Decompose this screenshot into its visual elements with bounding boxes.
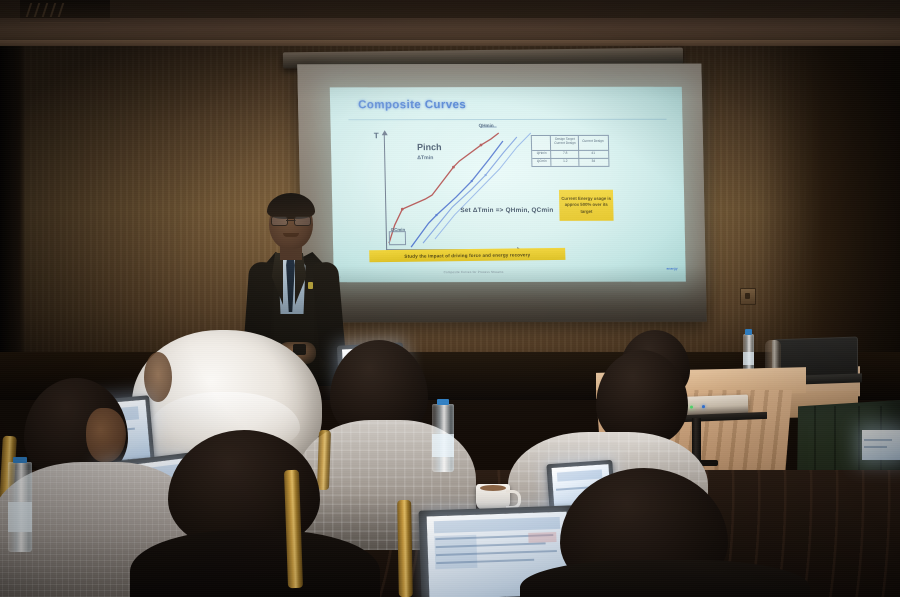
- coffee-surface: [480, 485, 506, 491]
- table-row-1-target: 1.2: [552, 160, 578, 164]
- presenter-lapel-badge: [308, 282, 313, 289]
- conference-room-photo: Composite Curves T H: [0, 0, 900, 597]
- slide-bottom-banner: Study the impact of driving force and en…: [369, 248, 565, 262]
- chart-qcmin-label: QCmin: [391, 227, 406, 232]
- table-header-target: Design Target Current Design: [552, 138, 578, 145]
- projection-screen: Composite Curves T H: [297, 64, 706, 323]
- presenter-glasses: [271, 216, 311, 224]
- table-row-1-label: QCmin: [533, 160, 550, 164]
- chart-equation-note: Set ΔTmin => QHmin, QCmin: [460, 207, 553, 214]
- laptop-screen-far-right: [862, 430, 900, 460]
- chart-qhmin-label: QHmin: [479, 123, 494, 128]
- presenter-moustache: [283, 233, 299, 237]
- table-row-1-current: 34: [580, 160, 606, 164]
- projected-slide: Composite Curves T H: [330, 87, 686, 283]
- coffee-cup-handle: [506, 490, 521, 509]
- attendee-f-body: [520, 560, 810, 597]
- attendee-c-body: [130, 530, 380, 597]
- banquet-chair: [397, 500, 413, 597]
- table-header-current: Current Design: [580, 140, 606, 144]
- slide-logo: energy: [666, 267, 677, 271]
- chart-pinch-label: Pinch: [417, 142, 442, 152]
- chart-qcmin-box: [389, 231, 406, 245]
- water-bottle: [432, 404, 454, 472]
- chart-delta-tmin-label: ΔTmin: [417, 155, 433, 161]
- table-row-0-current: 41: [580, 152, 606, 156]
- table-row-0-label: QHmin: [533, 152, 550, 156]
- slide-callout-box: Current Energy usage is approx 500% over…: [559, 190, 614, 221]
- banquet-chair: [317, 430, 331, 490]
- slide-footer-text: Composite Curves for Process Streams: [444, 270, 504, 274]
- attendee-ghutra-face: [144, 352, 172, 402]
- slide-results-table: Design Target Current Design Current Des…: [531, 135, 610, 167]
- table-row-0-target: 7.8: [552, 152, 578, 156]
- water-bottle: [8, 462, 32, 552]
- attendee-a-face: [86, 408, 126, 462]
